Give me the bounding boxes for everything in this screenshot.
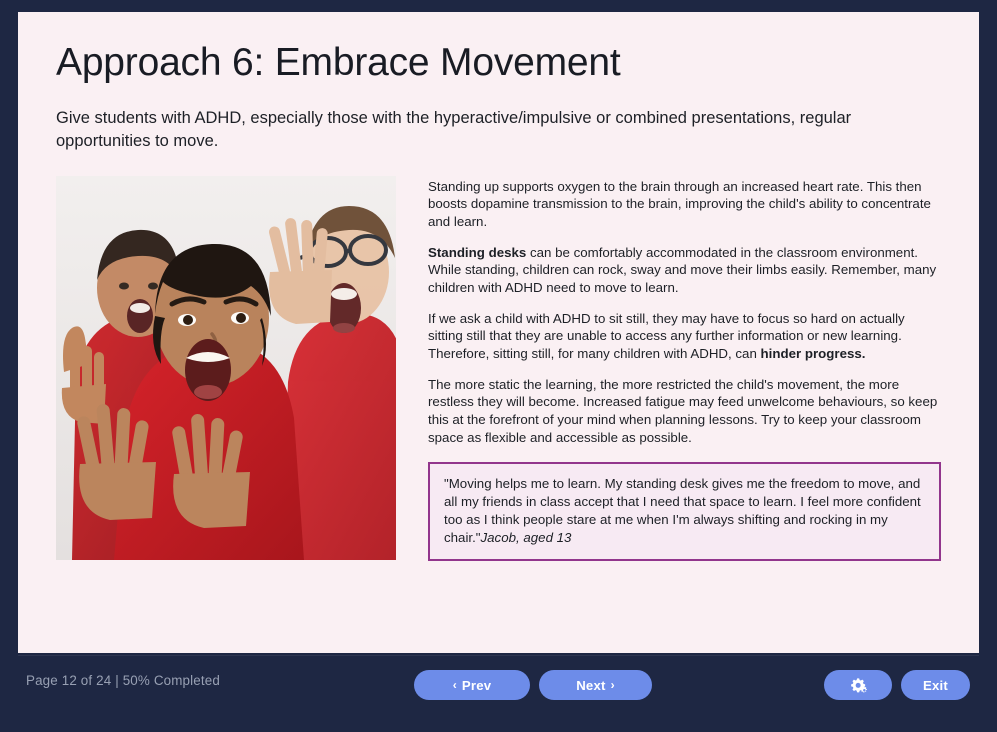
body-paragraph-4: The more static the learning, the more r…: [428, 376, 941, 447]
chevron-right-icon: ›: [611, 679, 615, 691]
player-footer-bar: Page 12 of 24 | 50% Completed ‹ Prev Nex…: [0, 653, 997, 732]
next-button-label: Next: [576, 678, 605, 693]
page-title: Approach 6: Embrace Movement: [56, 42, 941, 85]
cogs-icon: [849, 677, 868, 694]
slide-subtitle: Give students with ADHD, especially thos…: [56, 107, 941, 154]
course-player-window: Approach 6: Embrace Movement Give studen…: [0, 0, 997, 732]
hinder-progress-emphasis: hinder progress.: [761, 346, 866, 361]
body-paragraph-2: Standing desks can be comfortably accomm…: [428, 244, 941, 297]
exit-button-label: Exit: [923, 678, 948, 693]
quote-paragraph: "Moving helps me to learn. My standing d…: [444, 475, 926, 546]
chevron-left-icon: ‹: [453, 679, 457, 691]
prev-button[interactable]: ‹ Prev: [414, 670, 530, 700]
prev-button-label: Prev: [462, 678, 491, 693]
footer-navigation: ‹ Prev Next ›: [0, 653, 997, 732]
slide-body-columns: Standing up supports oxygen to the brain…: [56, 176, 941, 561]
next-button[interactable]: Next ›: [539, 670, 652, 700]
body-paragraph-1: Standing up supports oxygen to the brain…: [428, 178, 941, 231]
media-column: [56, 176, 396, 560]
slide-content: Approach 6: Embrace Movement Give studen…: [18, 12, 979, 561]
text-column: Standing up supports oxygen to the brain…: [428, 176, 941, 561]
paragraph-text: Standing up supports oxygen to the brain…: [428, 179, 931, 229]
footer-divider: [18, 655, 979, 656]
quote-attribution: Jacob, aged 13: [481, 530, 572, 545]
exit-button[interactable]: Exit: [901, 670, 970, 700]
photo-illustration: [56, 176, 396, 560]
paragraph-text: The more static the learning, the more r…: [428, 377, 937, 445]
settings-button[interactable]: [824, 670, 892, 700]
progress-status-text: Page 12 of 24 | 50% Completed: [26, 673, 220, 688]
standing-desks-emphasis: Standing desks: [428, 245, 526, 260]
body-paragraph-3: If we ask a child with ADHD to sit still…: [428, 310, 941, 363]
student-quote-box: "Moving helps me to learn. My standing d…: [428, 462, 941, 560]
children-shouting-photo: [56, 176, 396, 560]
slide-card: Approach 6: Embrace Movement Give studen…: [18, 12, 979, 653]
